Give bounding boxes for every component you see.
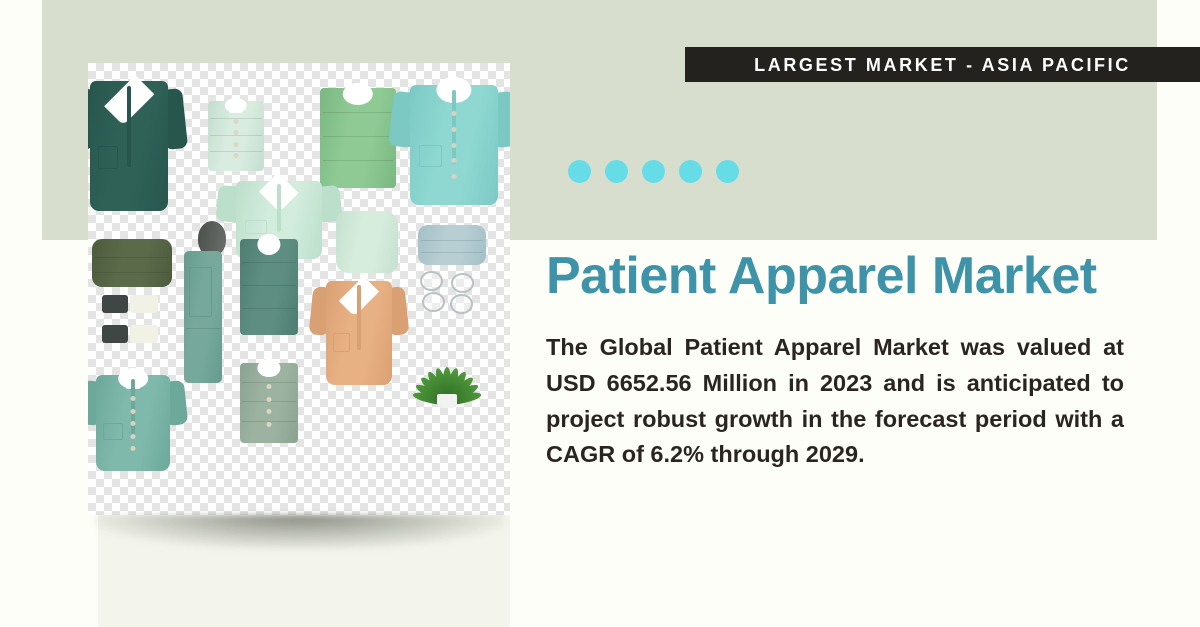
- market-description: The Global Patient Apparel Market was va…: [546, 330, 1124, 473]
- peach-vneck-tee: [326, 281, 392, 385]
- ring-set: [420, 271, 474, 315]
- poster-canvas: LARGEST MARKET - ASIA PACIFIC Patient Ap…: [0, 0, 1200, 627]
- page-title: Patient Apparel Market: [546, 248, 1124, 304]
- product-collage: [88, 63, 510, 515]
- blue-folded-blanket: [418, 225, 486, 265]
- collage-canvas: [88, 63, 510, 515]
- aqua-button-scrub: [410, 85, 498, 205]
- teal-folded-scrub-top: [240, 239, 298, 335]
- fern-plant: [414, 335, 480, 411]
- teal-scrub-pants: [184, 251, 222, 383]
- teal-henley-top: [96, 375, 170, 471]
- decorative-dots: [568, 160, 739, 183]
- decorative-dot: [716, 160, 739, 183]
- decorative-dot: [605, 160, 628, 183]
- largest-market-banner: LARGEST MARKET - ASIA PACIFIC: [685, 47, 1200, 82]
- decorative-dot: [679, 160, 702, 183]
- dark-green-scrub-top: [90, 81, 168, 211]
- sage-button-shirt: [240, 363, 298, 443]
- sock-pair-upper: [102, 295, 158, 313]
- mint-folded-polo: [208, 101, 264, 171]
- decorative-dot: [568, 160, 591, 183]
- green-folded-tee: [320, 88, 396, 188]
- decorative-dot: [642, 160, 665, 183]
- olive-rolled-towel: [92, 239, 172, 287]
- text-column: Patient Apparel Market The Global Patien…: [546, 248, 1124, 473]
- mint-pillow: [336, 211, 398, 273]
- banner-label: LARGEST MARKET - ASIA PACIFIC: [754, 56, 1131, 74]
- sock-pair-lower: [102, 325, 158, 343]
- collage-drop-shadow: [94, 515, 504, 549]
